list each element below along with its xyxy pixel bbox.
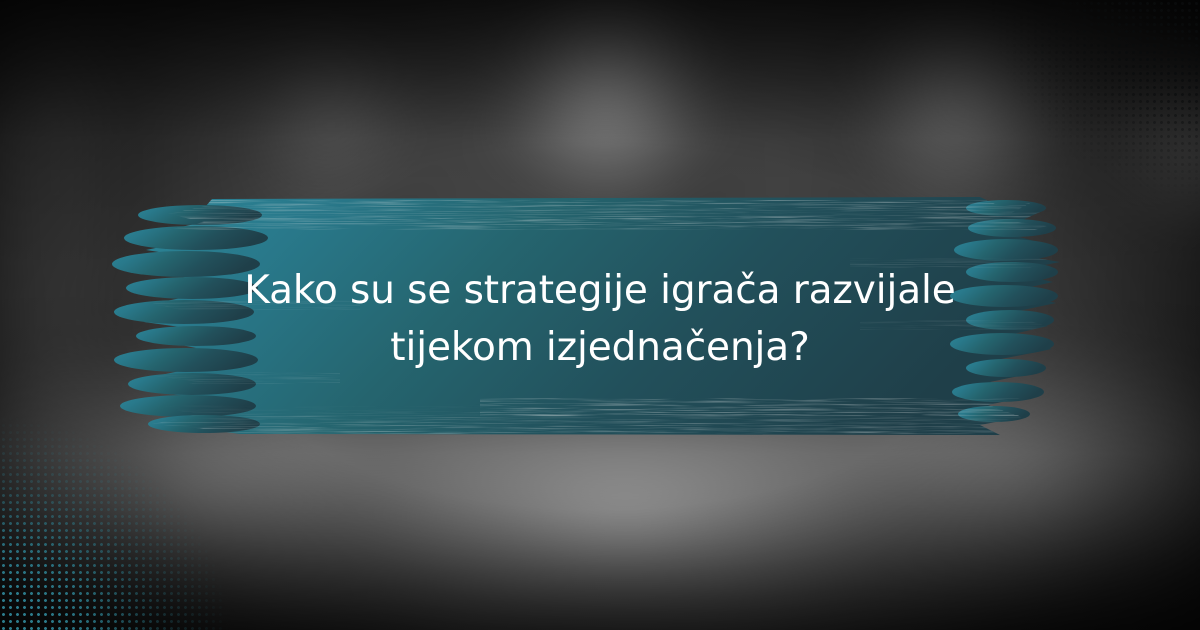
page-title: Kako su se strategije igrača razvijale t…	[170, 262, 1030, 376]
social-share-card: Kako su se strategije igrača razvijale t…	[0, 0, 1200, 630]
